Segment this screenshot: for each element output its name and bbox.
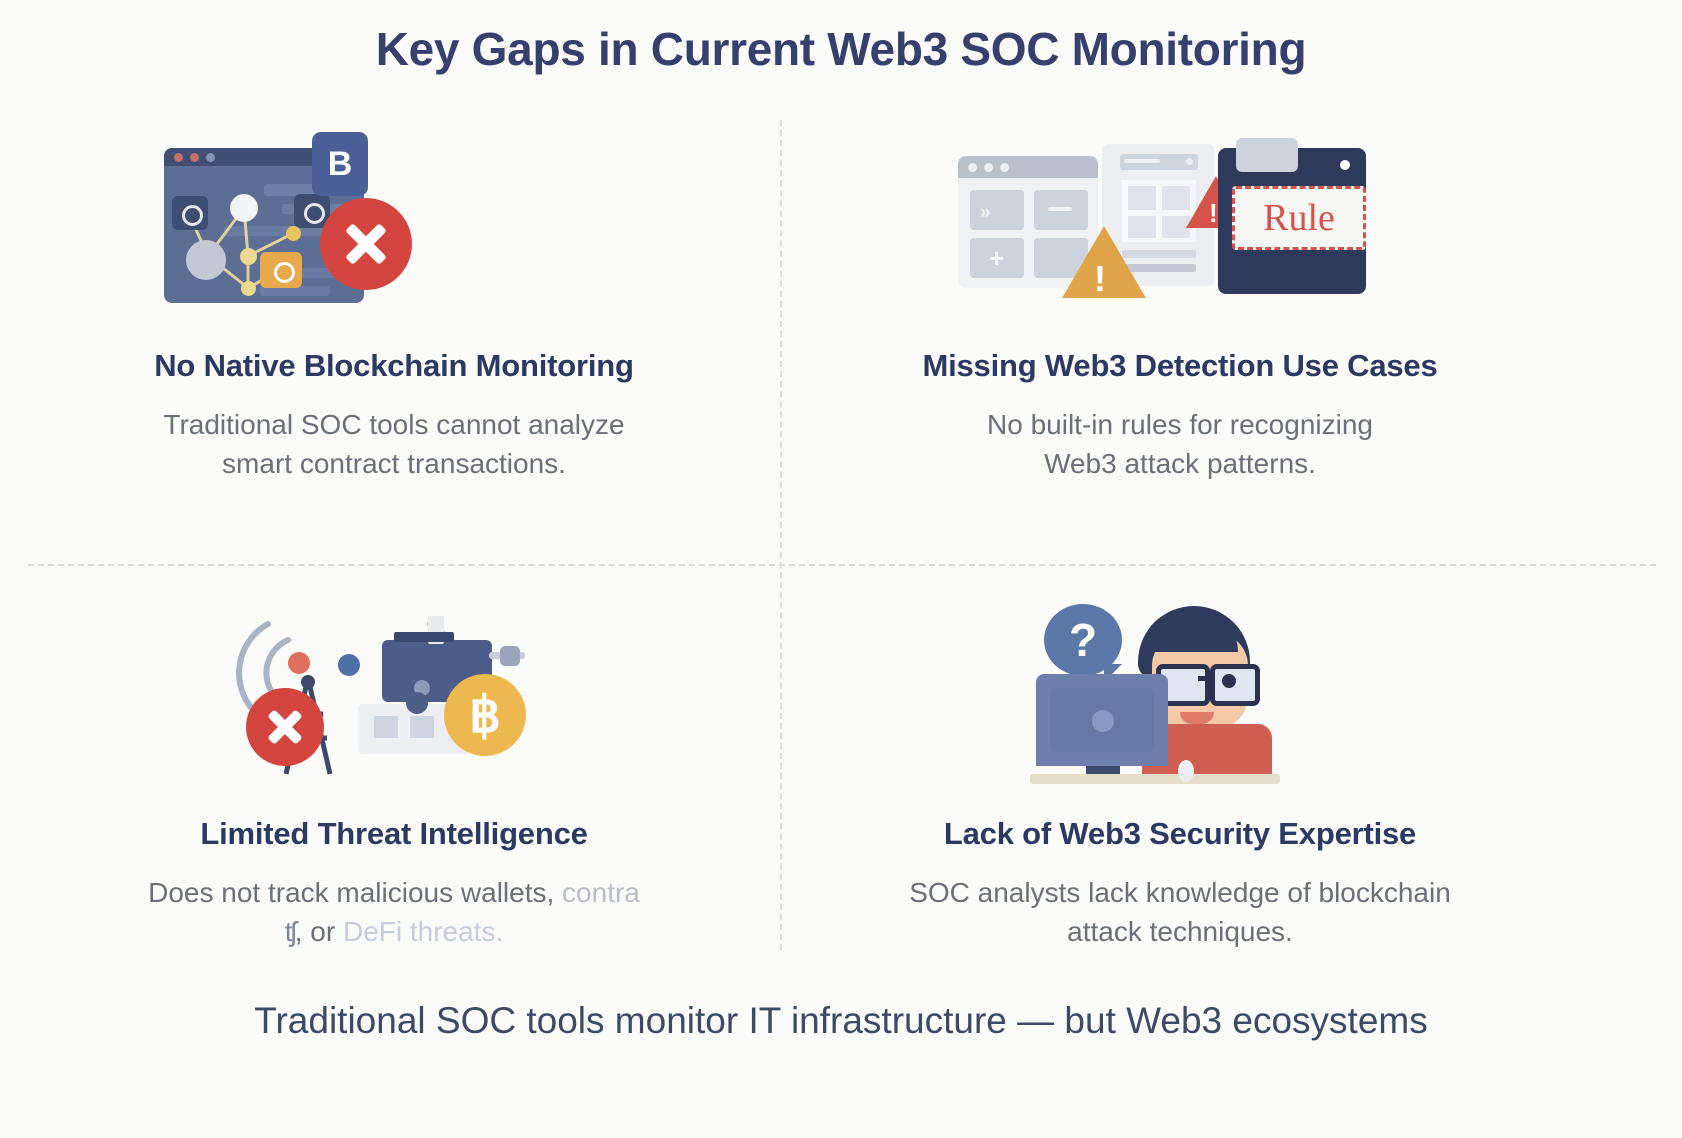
body-line-2: attack techniques. xyxy=(1067,916,1293,947)
illustration-browser-blockchain-network: B xyxy=(164,130,624,320)
quadrant-lack-of-web3-security-expertise: ? Lack of Web3 Security xyxy=(800,592,1560,951)
bitcoin-coin-icon: ฿ xyxy=(444,674,526,756)
divider-vertical xyxy=(780,120,782,950)
illustration-tower-server-bitcoin: ฿ xyxy=(234,592,554,782)
body-line-1: No built-in rules for recognizing xyxy=(987,409,1373,440)
body-line-1: Traditional SOC tools cannot analyze xyxy=(163,409,624,440)
quadrant-body: Traditional SOC tools cannot analyze sma… xyxy=(14,406,774,483)
quadrant-body: SOC analysts lack knowledge of blockchai… xyxy=(800,874,1560,951)
body-line-1: Does not track malicious wallets, xyxy=(148,877,562,908)
quadrant-heading: Limited Threat Intelligence xyxy=(14,816,774,852)
quadrant-limited-threat-intelligence: ฿ Limited Threat Intelligence Does not t… xyxy=(14,592,774,951)
body-line-2-faded: DeFi threats. xyxy=(343,916,503,947)
quadrant-no-native-blockchain-monitoring: B No Native Blockchain Monitoring Tradit… xyxy=(14,130,774,483)
divider-horizontal xyxy=(28,564,1656,566)
page-title: Key Gaps in Current Web3 SOC Monitoring xyxy=(0,22,1682,76)
blockchain-badge-icon: B xyxy=(312,132,368,196)
body-line-2: , or xyxy=(295,916,343,947)
footer-note: Traditional SOC tools monitor IT infrast… xyxy=(0,1000,1682,1042)
quadrant-body: No built-in rules for recognizing Web3 a… xyxy=(800,406,1560,483)
body-line-1: SOC analysts lack knowledge of blockchai… xyxy=(909,877,1451,908)
quadrant-heading: Missing Web3 Detection Use Cases xyxy=(800,348,1560,384)
warning-glyph: ! xyxy=(1209,198,1218,229)
body-line-2: Web3 attack patterns. xyxy=(1044,448,1316,479)
quadrant-missing-web3-detection-use-cases: » + ! xyxy=(800,130,1560,483)
body-line-2: smart contract transactions. xyxy=(222,448,566,479)
quadrant-heading: No Native Blockchain Monitoring xyxy=(14,348,774,384)
error-x-icon xyxy=(320,198,412,290)
quadrant-heading: Lack of Web3 Security Expertise xyxy=(800,816,1560,852)
warning-glyph: ! xyxy=(1094,258,1106,300)
illustration-dashboard-rule-warnings: » + ! xyxy=(950,130,1410,320)
body-line-2-glitch: tʃ xyxy=(285,916,295,947)
desk-icon xyxy=(1030,774,1280,784)
quadrant-body: Does not track malicious wallets, contra… xyxy=(14,874,774,951)
rule-label: Rule xyxy=(1232,186,1366,250)
body-line-1-faded: contra xyxy=(562,877,640,908)
error-x-icon xyxy=(246,688,324,766)
illustration-analyst-at-laptop: ? xyxy=(1030,592,1330,782)
infographic-root: Key Gaps in Current Web3 SOC Monitoring xyxy=(0,0,1682,1138)
